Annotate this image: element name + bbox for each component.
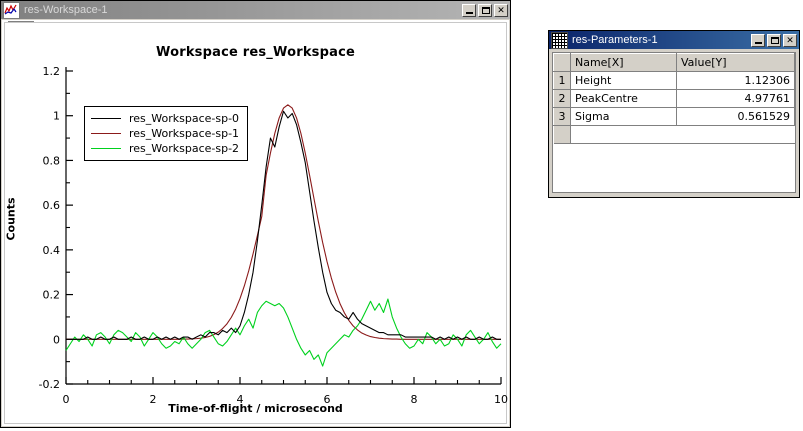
svg-text:8: 8 [411,393,418,406]
plot-window[interactable]: res-Workspace-1 ✕ 1 Workspace res_Worksp… [0,0,511,428]
svg-text:0.2: 0.2 [43,289,61,302]
svg-text:0.6: 0.6 [43,199,61,212]
legend-swatch-0 [91,118,121,119]
plot-window-controls[interactable]: ✕ [462,4,508,17]
legend-label-0: res_Workspace-sp-0 [129,112,239,125]
svg-text:1: 1 [53,110,60,123]
parameters-maximize-button[interactable] [767,34,781,47]
table-icon [551,32,568,49]
column-header-name[interactable]: Name[X] [571,54,677,72]
svg-text:0.4: 0.4 [43,244,61,257]
table-row[interactable]: 3 Sigma 0.561529 [554,108,795,126]
plot-maximize-button[interactable] [478,4,492,17]
legend-swatch-1 [91,133,121,134]
parameters-close-button[interactable]: ✕ [783,34,797,47]
plot-window-title: res-Workspace-1 [24,4,462,16]
cell-name[interactable]: Height [571,72,677,90]
table-empty-row [554,126,795,144]
parameters-table[interactable]: Name[X] Value[Y] 1 Height 1.12306 2 Peak… [553,53,795,144]
parameters-window-controls[interactable]: ✕ [751,34,797,47]
svg-text:1.2: 1.2 [43,65,61,78]
table-row[interactable]: 1 Height 1.12306 [554,72,795,90]
table-header-row: Name[X] Value[Y] [554,54,795,72]
row-index[interactable]: 1 [554,72,571,90]
cell-value[interactable]: 4.97761 [677,90,795,108]
column-header-value[interactable]: Value[Y] [677,54,795,72]
plot-canvas[interactable]: 1 Workspace res_Workspace Counts Time-of… [2,20,509,426]
plot-close-button[interactable]: ✕ [494,4,508,17]
legend-label-2: res_Workspace-sp-2 [129,142,239,155]
plot-window-titlebar[interactable]: res-Workspace-1 ✕ [1,1,510,19]
legend-swatch-2 [91,148,121,149]
parameters-window-titlebar[interactable]: res-Parameters-1 ✕ [549,31,799,49]
svg-text:0: 0 [53,333,60,346]
parameters-window[interactable]: res-Parameters-1 ✕ Name[X] Value[Y] [548,30,800,198]
chart-legend[interactable]: res_Workspace-sp-0 res_Workspace-sp-1 re… [84,106,248,161]
svg-text:-0.2: -0.2 [39,378,60,391]
cell-value[interactable]: 1.12306 [677,72,795,90]
row-index[interactable]: 2 [554,90,571,108]
table-corner-cell[interactable] [554,54,571,72]
legend-label-1: res_Workspace-sp-1 [129,127,239,140]
svg-text:4: 4 [237,393,244,406]
parameters-window-title: res-Parameters-1 [572,34,751,46]
parameters-table-area[interactable]: Name[X] Value[Y] 1 Height 1.12306 2 Peak… [552,52,796,193]
svg-text:0.8: 0.8 [43,154,61,167]
svg-text:10: 10 [494,393,508,406]
parameters-minimize-button[interactable] [751,34,765,47]
legend-item-2[interactable]: res_Workspace-sp-2 [91,141,239,156]
chart-plot-svg: -0.200.20.40.60.811.20246810 [5,23,510,427]
plot-area[interactable]: Workspace res_Workspace Counts Time-of-f… [4,22,507,424]
cell-name[interactable]: Sigma [571,108,677,126]
plot-icon [3,2,20,19]
legend-item-1[interactable]: res_Workspace-sp-1 [91,126,239,141]
table-row[interactable]: 2 PeakCentre 4.97761 [554,90,795,108]
svg-text:0: 0 [63,393,70,406]
empty-row-body [571,126,795,144]
cell-name[interactable]: PeakCentre [571,90,677,108]
legend-item-0[interactable]: res_Workspace-sp-0 [91,111,239,126]
row-index[interactable]: 3 [554,108,571,126]
plot-minimize-button[interactable] [462,4,476,17]
svg-text:6: 6 [324,393,331,406]
empty-row-gutter [554,126,571,144]
desktop: res-Workspace-1 ✕ 1 Workspace res_Worksp… [0,0,803,431]
cell-value[interactable]: 0.561529 [677,108,795,126]
svg-text:2: 2 [150,393,157,406]
